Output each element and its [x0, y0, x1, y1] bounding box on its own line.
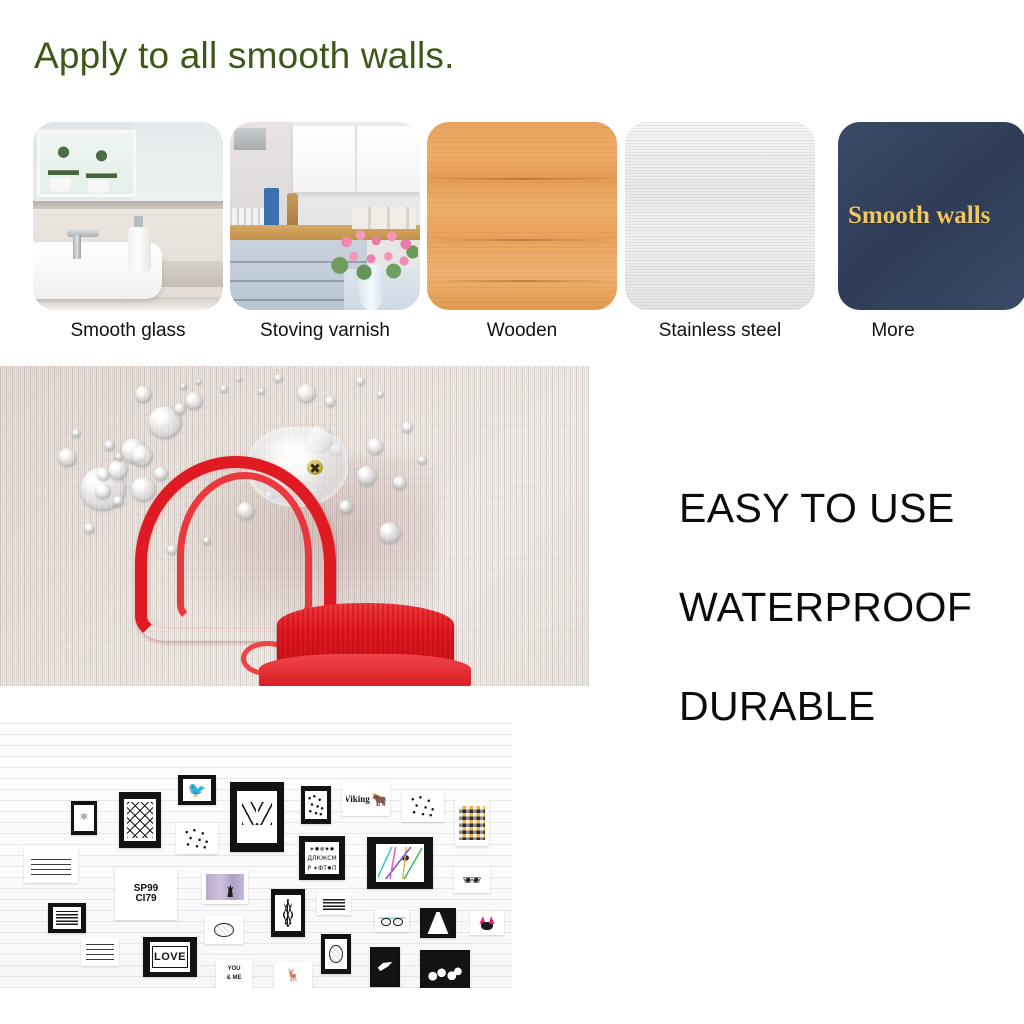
bottle-ring — [259, 654, 471, 686]
swoosh-art — [375, 954, 394, 979]
diamond-pattern-art — [127, 802, 154, 838]
frame-leaf — [271, 889, 305, 937]
navy-swatch: Smooth walls — [838, 122, 1024, 310]
page-title: Apply to all smooth walls. — [34, 32, 455, 80]
mustache-glyph: 🕶 — [462, 873, 481, 888]
forest-art — [428, 957, 462, 981]
frame-swoosh — [370, 947, 400, 987]
product-infographic: Apply to all smooth walls. — [0, 0, 1024, 1024]
blessing-art — [214, 923, 234, 937]
surface-card-stainless-steel: Stainless steel — [625, 122, 815, 310]
water-droplet — [356, 377, 365, 386]
water-droplet — [339, 500, 353, 514]
frame-rainbow-zebra — [367, 837, 433, 889]
frame-antler-quote — [230, 782, 284, 852]
frame-christmas-tree — [420, 908, 456, 938]
frame-pattern-grid — [402, 790, 444, 822]
frame-deer-silhouette: 🦌 — [274, 962, 312, 988]
feature-easy-to-use: EASY TO USE — [679, 486, 1009, 530]
frame-confetti — [176, 823, 218, 854]
water-droplet — [274, 374, 283, 383]
water-droplet — [113, 496, 124, 507]
frame-diamond-pattern — [119, 792, 161, 848]
surface-card-wooden: Wooden — [427, 122, 617, 310]
frame-spci99: SP99 CI79 — [115, 868, 177, 920]
water-droplet — [84, 523, 95, 534]
water-droplet — [104, 440, 115, 451]
surface-card-smooth-glass: Smooth glass — [33, 122, 223, 310]
water-droplet — [402, 422, 413, 433]
water-droplet — [236, 376, 242, 382]
frame-face-sketch — [301, 786, 331, 824]
water-droplet — [220, 385, 228, 393]
dog-art — [479, 916, 494, 930]
frame-purple-deer — [202, 870, 248, 904]
water-droplet — [180, 383, 187, 390]
leaf-art — [283, 899, 293, 927]
antler-quote-text — [256, 827, 258, 832]
water-droplet — [377, 391, 384, 398]
checker-art — [459, 806, 485, 841]
spci-line-2: CI79 — [135, 894, 156, 904]
frame-viking: Viking 🐂 — [342, 782, 390, 816]
face-sketch-art — [306, 793, 326, 818]
frame-small-quote — [48, 903, 86, 933]
smooth-walls-overlay-text: Smooth walls — [848, 202, 990, 230]
abstract-sketch-art — [86, 944, 113, 960]
frame-you-and-me: YOU & ME — [216, 960, 252, 988]
surface-card-more: Smooth walls More — [838, 122, 1024, 310]
water-droplet — [135, 386, 152, 403]
surface-label: Smooth glass — [33, 320, 223, 342]
water-droplet — [115, 453, 123, 461]
frame-mustache: 🕶 — [454, 867, 490, 893]
water-droplet — [58, 448, 77, 467]
waterproof-hook-photo — [0, 366, 589, 686]
frame-runes: ✶✹✵✷✸ ДЛКЖСМР ✶ФТ✸ПГФИ ГГРМППОЧБ — [299, 836, 345, 880]
water-droplet — [131, 477, 156, 502]
frame-stag-head: ⚛ — [71, 801, 97, 835]
feature-durable: DURABLE — [679, 684, 1009, 728]
frame-blessing — [205, 916, 243, 944]
water-droplet — [174, 403, 186, 415]
typography-art — [323, 898, 345, 909]
frame-abstract-sketch — [81, 938, 119, 966]
surface-label: More — [838, 320, 948, 342]
water-droplet — [418, 456, 427, 465]
stag-glyph: ⚛ — [80, 813, 89, 823]
youme-line-2: & ME — [227, 974, 242, 983]
frame-wanted-checker — [455, 800, 489, 846]
water-droplet — [108, 460, 128, 480]
purple-forest-art — [206, 874, 243, 900]
surface-label: Stainless steel — [625, 320, 815, 342]
frame-forest-qr — [420, 950, 470, 988]
script-quote-art — [31, 855, 70, 876]
frame-bike — [375, 910, 409, 932]
water-droplet — [367, 438, 384, 455]
gallery-wall-photo: ⚛ 🐦 Viking 🐂 — [0, 722, 512, 988]
bird-glyph: 🐦 — [188, 783, 207, 798]
tree-art — [426, 912, 450, 934]
circle-stamp-art — [329, 945, 343, 963]
small-quote-art — [56, 911, 78, 925]
water-droplet — [325, 396, 336, 407]
water-droplet — [258, 388, 265, 395]
kitchen-cabinet-photo — [230, 122, 420, 310]
surface-card-stoving-varnish: Stoving varnish — [230, 122, 420, 310]
frame-typography — [317, 893, 351, 915]
wood-grain-swatch — [427, 122, 617, 310]
feature-waterproof: WATERPROOF — [679, 585, 1009, 629]
frame-dog — [470, 911, 504, 935]
water-droplet — [185, 392, 203, 410]
deer-glyph: 🦌 — [286, 969, 301, 981]
frame-circle-stamp — [321, 934, 351, 974]
brushed-steel-swatch — [625, 122, 815, 310]
antler-art — [241, 802, 273, 825]
frame-bird: 🐦 — [178, 775, 216, 805]
surface-label: Wooden — [427, 320, 617, 342]
surface-label: Stoving varnish — [230, 320, 420, 342]
pattern-grid-art — [407, 794, 438, 817]
feature-list: EASY TO USE WATERPROOF DURABLE — [679, 486, 1009, 728]
bathroom-sink-photo — [33, 122, 223, 310]
water-droplet — [379, 522, 401, 544]
bull-glyph: 🐂 — [372, 793, 386, 806]
water-droplet — [72, 429, 81, 438]
frame-love: LOVE — [143, 937, 197, 977]
water-droplet — [297, 384, 316, 403]
zebra-art — [378, 847, 422, 879]
love-label: LOVE — [152, 946, 187, 968]
water-droplet — [154, 467, 168, 481]
confetti-art — [181, 827, 212, 849]
surface-type-strip: Smooth glass Stoving — [0, 122, 1024, 352]
water-droplet — [131, 445, 153, 467]
water-droplet — [357, 466, 377, 486]
frame-script-quote — [24, 847, 78, 883]
bike-art — [379, 914, 405, 928]
youme-line-1: YOU — [227, 965, 240, 974]
runes-text: ✶✹✵✷✸ ДЛКЖСМР ✶ФТ✸ПГФИ ГГРМППОЧБ — [307, 845, 337, 871]
viking-label: Viking — [346, 794, 370, 804]
water-droplet — [196, 379, 202, 385]
